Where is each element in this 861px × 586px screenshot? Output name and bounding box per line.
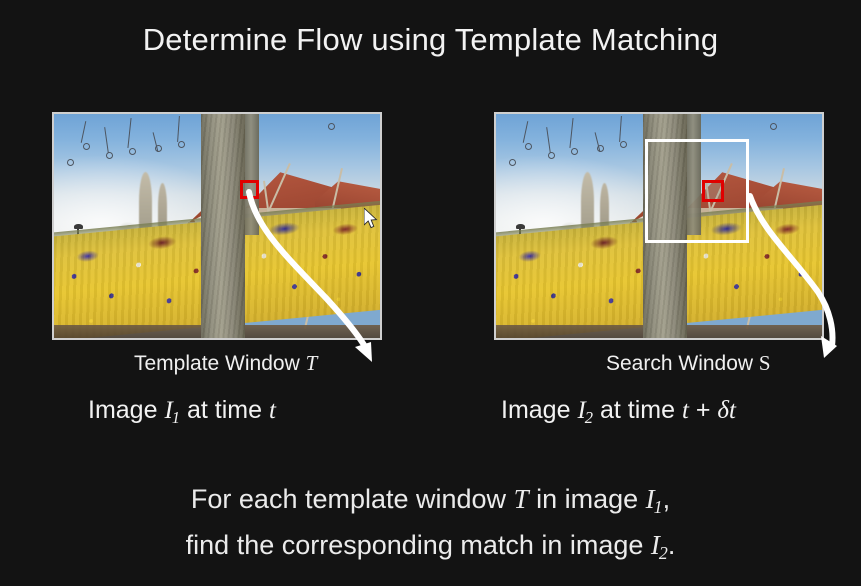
seed-pod-5 [178, 141, 185, 148]
summary-line-1-part-b: in image [529, 484, 646, 514]
seed-pod-3 [129, 148, 136, 155]
summary-image-subscript-1: 1 [654, 497, 663, 517]
seed-pod-5 [620, 141, 627, 148]
summary-line-1-part-a: For each template window [191, 484, 514, 514]
search-window-symbol: S [759, 351, 771, 375]
main-tree-trunk [201, 112, 245, 340]
summary-line-1-comma: , [663, 484, 671, 514]
mouse-pointer [364, 208, 378, 229]
caption-prefix: Image [88, 396, 164, 424]
summary-line-2: find the corresponding match in image I2… [0, 530, 861, 564]
image-i1-photo [52, 112, 382, 340]
lamp-head-1 [74, 224, 83, 229]
matched-template-window-box [702, 180, 724, 202]
caption-delta-symbol: δ [717, 397, 729, 424]
lamp-head-1 [516, 224, 525, 229]
seed-pod-7 [328, 123, 335, 130]
seed-pod-7 [770, 123, 777, 130]
caption-plus-operator: + [689, 396, 718, 424]
image-i2-caption: Image I2 at time t + δt [501, 396, 736, 428]
secondary-tree-trunk [243, 112, 259, 235]
template-window-symbol: T [306, 351, 318, 375]
caption-prefix: Image [501, 396, 577, 424]
caption-image-subscript: 1 [172, 408, 180, 427]
caption-time-symbol: t [269, 397, 276, 424]
summary-template-symbol: T [514, 484, 529, 514]
summary-image-subscript-2: 2 [659, 543, 668, 563]
template-window-box [240, 180, 259, 199]
template-window-label-text: Template Window [134, 352, 306, 375]
seed-pod-3 [571, 148, 578, 155]
caption-middle: at time [180, 396, 269, 424]
template-window-label: Template Window T [134, 351, 317, 376]
summary-line-1: For each template window T in image I1, [0, 484, 861, 518]
search-window-box [645, 139, 749, 243]
caption-middle: at time [593, 396, 682, 424]
image-i1-caption: Image I1 at time t [88, 396, 276, 428]
caption-image-subscript: 2 [585, 408, 593, 427]
page-title: Determine Flow using Template Matching [0, 22, 861, 58]
caption-time-symbol: t [682, 397, 689, 424]
search-window-label-text: Search Window [606, 352, 759, 375]
slide-root: Determine Flow using Template Matching [0, 0, 861, 586]
search-window-label: Search Window S [606, 351, 771, 376]
seed-pod-6 [509, 159, 516, 166]
summary-line-2-part-a: find the corresponding match in image [186, 530, 651, 560]
seed-pod-6 [67, 159, 74, 166]
caption-delta-time-symbol: t [729, 397, 736, 424]
summary-line-2-period: . [668, 530, 676, 560]
scene-left [54, 114, 380, 338]
